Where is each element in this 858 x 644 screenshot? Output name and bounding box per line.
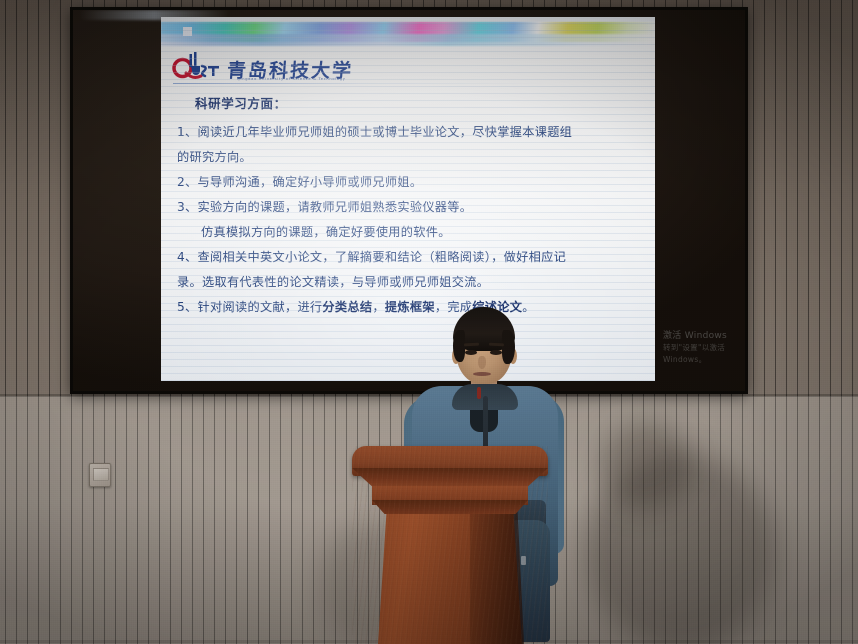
slide-heading: 科研学习方面： <box>195 93 655 112</box>
presenter-mouth <box>473 372 491 376</box>
slide-line-5-bold-1: 分类总结 <box>322 300 372 314</box>
slide-line-5-sep-1: ， <box>372 300 385 314</box>
presenter-pocket-tag <box>521 556 526 565</box>
slide-line-5-suffix: 。 <box>522 300 535 314</box>
qust-logo-icon <box>171 51 221 81</box>
slide-line-5-bold-2: 提炼框架 <box>385 300 435 314</box>
slide-artifact-chip <box>183 27 192 36</box>
watermark-title: 激活 Windows <box>663 330 745 342</box>
presenter-right-eye <box>490 350 502 355</box>
light-switch-rocker[interactable] <box>93 468 109 481</box>
watermark-subtitle: 转到"设置"以激活 Windows。 <box>663 342 745 366</box>
clip-microphone-icon <box>477 387 481 399</box>
slide-line-5: 5、针对阅读的文献，进行分类总结，提炼框架，完成综述论文。 <box>177 295 655 320</box>
windows-activation-watermark: 激活 Windows 转到"设置"以激活 Windows。 <box>663 330 745 366</box>
slide-line-3: 3、实验方向的课题，请教师兄师姐熟悉实验仪器等。 <box>177 195 655 220</box>
slide-university-name-en: Qingdao University of Science & Technolo… <box>237 77 346 81</box>
slide-line-1-cont: 的研究方向。 <box>177 145 655 170</box>
lecture-hall-scene: 青岛科技大学 Qingdao University of Science & T… <box>0 0 858 644</box>
podium-column-shadow <box>470 510 524 644</box>
slide-rainbow-artifact-secondary <box>161 34 655 46</box>
slide-line-1: 1、阅读近几年毕业师兄师姐的硕士或博士毕业论文，尽快掌握本课题组 <box>177 120 655 145</box>
presentation-slide: 青岛科技大学 Qingdao University of Science & T… <box>161 17 655 381</box>
presenter-head-shadow <box>600 420 692 510</box>
presenter-hair-left <box>453 330 465 362</box>
podium-top-face <box>352 468 548 486</box>
slide-logo-divider <box>173 83 551 84</box>
slide-line-3-cont: 仿真模拟方向的课题，确定好要使用的软件。 <box>201 220 655 245</box>
slide-logo: 青岛科技大学 Qingdao University of Science & T… <box>171 51 353 81</box>
presenter-hair-right <box>502 330 515 364</box>
slide-line-4-cont: 录。选取有代表性的论文精读，与导师或师兄师姐交流。 <box>177 270 655 295</box>
wall-display: 青岛科技大学 Qingdao University of Science & T… <box>70 7 748 394</box>
podium-midsection-face <box>372 500 528 514</box>
presenter-nose <box>478 356 486 369</box>
slide-line-5-prefix: 5、针对阅读的文献，进行 <box>177 300 322 314</box>
slide-line-4: 4、查阅相关中英文小论文，了解摘要和结论（粗略阅读），做好相应记 <box>177 245 655 270</box>
light-switch-plate[interactable] <box>89 463 111 487</box>
slide-line-2: 2、与导师沟通，确定好小导师或师兄师姐。 <box>177 170 655 195</box>
slide-body: 科研学习方面： 1、阅读近几年毕业师兄师姐的硕士或博士毕业论文，尽快掌握本课题组… <box>161 93 655 320</box>
presenter-left-eye <box>465 350 477 355</box>
